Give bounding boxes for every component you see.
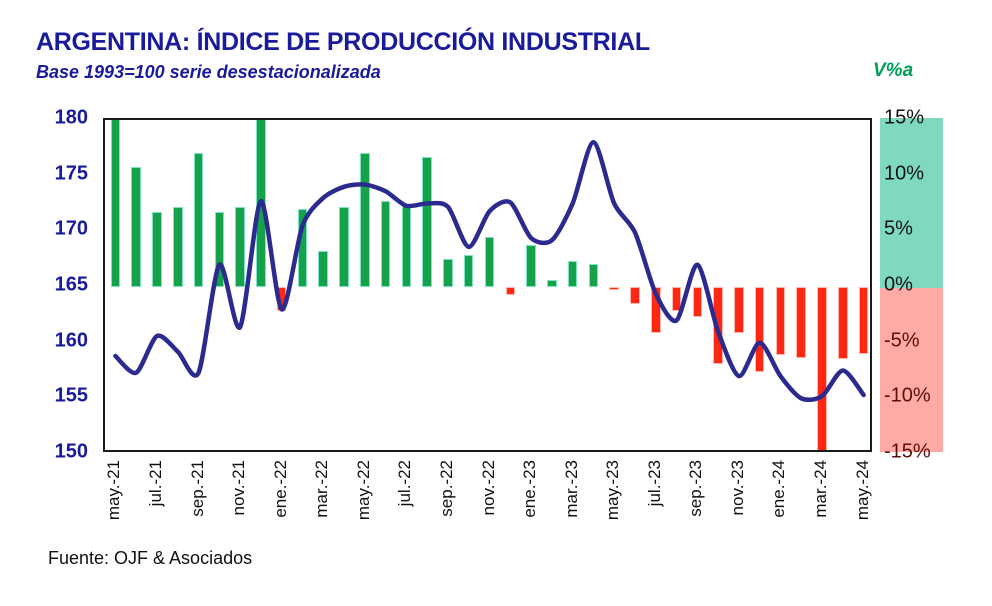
x-axis-tick-label: may.-22 (354, 460, 374, 520)
chart-root: ARGENTINA: ÍNDICE DE PRODUCCIÓN INDUSTRI… (0, 0, 992, 606)
right-axis-title: V%a (873, 60, 913, 82)
x-axis-tick-label: nov.-22 (479, 460, 499, 515)
x-axis-tick-label: may.-23 (603, 460, 623, 520)
y-axis-left-tick: 160 (28, 329, 88, 352)
y-axis-left-tick: 175 (28, 162, 88, 185)
x-axis-tick-label: sep.-23 (686, 460, 706, 517)
y-axis-right-tick: 15% (884, 107, 944, 130)
x-axis-tick-label: sep.-22 (437, 460, 457, 517)
source-note: Fuente: OJF & Asociados (48, 548, 252, 569)
x-axis-tick-label: ene.-24 (769, 460, 789, 518)
y-axis-right-tick: 10% (884, 162, 944, 185)
y-axis-left-tick: 150 (28, 441, 88, 464)
y-axis-left-tick: 155 (28, 385, 88, 408)
chart-subtitle: Base 1993=100 serie desestacionalizada (36, 62, 381, 83)
page-title: ARGENTINA: ÍNDICE DE PRODUCCIÓN INDUSTRI… (36, 28, 650, 57)
y-axis-right-tick: -15% (884, 441, 944, 464)
index-line-path (115, 142, 863, 400)
y-axis-right-tick: 0% (884, 274, 944, 297)
x-axis-tick-label: nov.-21 (229, 460, 249, 515)
positive-band (880, 118, 943, 288)
x-axis-tick-label: mar.-23 (562, 460, 582, 518)
y-axis-right-tick: -5% (884, 329, 944, 352)
x-axis-tick-label: jul.-21 (146, 460, 166, 506)
x-axis-tick-label: mar.-22 (312, 460, 332, 518)
index-line-series (105, 120, 870, 450)
x-axis-tick-label: mar.-24 (811, 460, 831, 518)
y-axis-right-tick: -10% (884, 385, 944, 408)
y-axis-left-tick: 180 (28, 107, 88, 130)
y-axis-right-tick: 5% (884, 218, 944, 241)
x-axis-tick-label: jul.-22 (395, 460, 415, 506)
plot-area (103, 118, 872, 452)
x-axis-tick-label: nov.-23 (728, 460, 748, 515)
negative-band (880, 288, 943, 452)
y-axis-left-tick: 165 (28, 274, 88, 297)
y-axis-left-tick: 170 (28, 218, 88, 241)
plot-inner (105, 120, 870, 450)
x-axis-tick-label: may.-21 (104, 460, 124, 520)
x-axis-tick-label: may.-24 (853, 460, 873, 520)
x-axis-tick-label: ene.-23 (520, 460, 540, 518)
x-axis-tick-label: sep.-21 (188, 460, 208, 517)
x-axis-tick-label: jul.-23 (645, 460, 665, 506)
x-axis-tick-label: ene.-22 (271, 460, 291, 518)
